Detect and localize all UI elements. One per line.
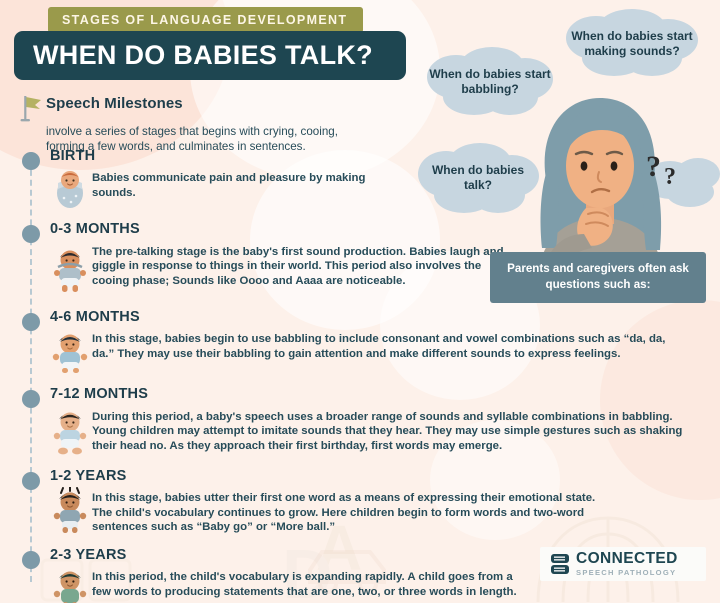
timeline-stage: 4-6 MONTHS In this stage, babies be [14,309,720,374]
stage-title: 4-6 MONTHS [50,309,720,326]
thought-bubble-sounds: When do babies start making sounds? [556,8,708,80]
thought-bubble-sounds-text: When do babies start making sounds? [556,29,708,59]
intro-heading-row: Speech Milestones [20,92,440,124]
thought-bubble-babbling-text: When do babies start babbling? [420,67,560,97]
intro-section: Speech Milestones involve a series of st… [20,92,440,155]
stage-description: In this stage, babies begin to use babbl… [90,328,690,361]
toddler-icon [50,487,90,535]
timeline-dot [22,551,40,569]
caption-box: Parents and caregivers often ask questio… [490,252,706,303]
logo-mark-icon [550,553,570,575]
thought-bubble-talk-text: When do babies talk? [412,163,544,193]
logo-wordmark: CONNECTED SPEECH PATHOLOGY [576,551,678,576]
stage-title: 1-2 YEARS [50,468,720,485]
stage-description: In this period, the child's vocabulary i… [90,566,530,599]
timeline-dot [22,225,40,243]
svg-text:?: ? [664,164,676,190]
timeline-dot [22,390,40,408]
sitting-baby-icon [50,406,90,456]
title-bar: WHEN DO BABIES TALK? [14,31,406,80]
stage-description: In this stage, babies utter their first … [90,487,610,535]
timeline-stage: 1-2 YEARS In this stage, [14,468,720,535]
stage-content-row: In this stage, babies begin to use babbl… [50,328,720,374]
timeline-dot [22,313,40,331]
page-title: WHEN DO BABIES TALK? [14,40,373,71]
logo-name: CONNECTED [576,551,678,567]
timeline-dot [22,152,40,170]
child-icon [50,566,90,603]
eyebrow-banner: STAGES OF LANGUAGE DEVELOPMENT [48,7,363,33]
stage-title: 7-12 MONTHS [50,386,720,403]
stage-content-row: In this stage, babies utter their first … [50,487,720,535]
stage-description: During this period, a baby's speech uses… [90,406,710,454]
stage-description: The pre-talking stage is the baby's firs… [90,241,510,289]
stage-description: Babies communicate pain and pleasure by … [90,167,390,200]
babbling-baby-icon [50,328,90,374]
stage-content-row: During this period, a baby's speech uses… [50,406,720,456]
crawling-baby-icon [50,241,90,295]
intro-heading: Speech Milestones [46,92,183,112]
logo-tagline: SPEECH PATHOLOGY [576,569,678,577]
timeline-dot [22,472,40,490]
timeline-stage: 7-12 MONTHS During this period, a b [14,386,720,455]
brand-logo[interactable]: CONNECTED SPEECH PATHOLOGY [540,547,706,581]
svg-text:?: ? [646,150,661,183]
flag-icon [20,94,46,124]
infographic-canvas: A D STAGES OF LANGUAGE DEVELOPMENT WHEN … [0,0,720,603]
swaddled-baby-icon [50,167,90,209]
